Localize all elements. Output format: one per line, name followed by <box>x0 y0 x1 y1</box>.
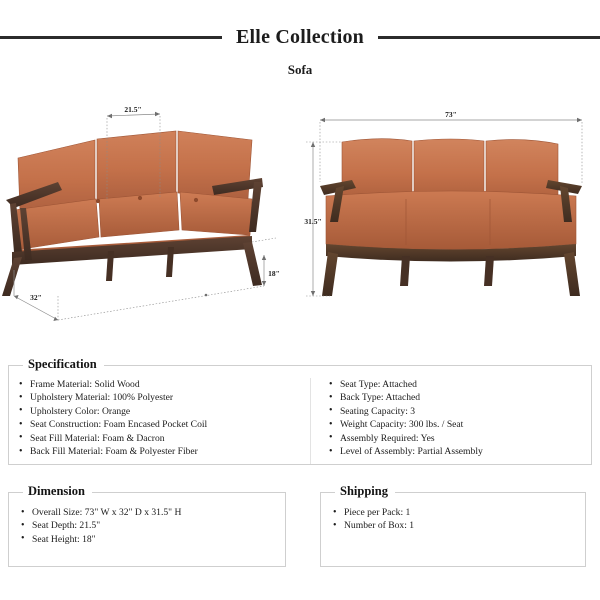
list-item: Level of Assembly: Partial Assembly <box>329 445 591 458</box>
dimension-label-width: 73" <box>445 110 457 119</box>
specification-section: Specification Frame Material: Solid Wood… <box>8 365 592 465</box>
dimension-label-seat-height: 18" <box>268 269 280 278</box>
list-item: Seat Depth: 21.5" <box>21 519 285 532</box>
page-title: Elle Collection <box>236 26 364 49</box>
header-rule-left <box>0 36 222 39</box>
header-rule-right <box>378 36 600 39</box>
shipping-list: Piece per Pack: 1 Number of Box: 1 <box>333 506 585 533</box>
dimension-list: Overall Size: 73" W x 32" D x 31.5" H Se… <box>21 506 285 546</box>
list-item: Seating Capacity: 3 <box>329 405 591 418</box>
list-item: Piece per Pack: 1 <box>333 506 585 519</box>
list-item: Upholstery Color: Orange <box>19 405 310 418</box>
sofa-perspective-view: 21.5" 32" 18" <box>0 100 300 350</box>
page-header: Elle Collection <box>0 26 600 49</box>
list-item: Upholstery Material: 100% Polyester <box>19 391 310 404</box>
list-item: Back Type: Attached <box>329 391 591 404</box>
specification-list-right: Seat Type: Attached Back Type: Attached … <box>329 378 591 458</box>
dimension-label-depth: 32" <box>30 293 42 302</box>
sofa-front-view: 73" 31.5" <box>300 100 600 350</box>
dimension-label-height: 31.5" <box>304 217 321 226</box>
page-subtitle: Sofa <box>0 62 600 78</box>
specification-legend: Specification <box>23 357 104 372</box>
list-item: Weight Capacity: 300 lbs. / Seat <box>329 418 591 431</box>
product-illustrations: 21.5" 32" 18" <box>0 100 600 350</box>
list-item: Back Fill Material: Foam & Polyester Fib… <box>19 445 310 458</box>
dimension-section: Dimension Overall Size: 73" W x 32" D x … <box>8 492 286 567</box>
list-item: Seat Type: Attached <box>329 378 591 391</box>
back-cushions <box>342 139 558 199</box>
list-item: Seat Construction: Foam Encased Pocket C… <box>19 418 310 431</box>
list-item: Seat Height: 18" <box>21 533 285 546</box>
dimension-legend: Dimension <box>23 484 92 499</box>
list-item: Frame Material: Solid Wood <box>19 378 310 391</box>
specification-column-right: Seat Type: Attached Back Type: Attached … <box>310 378 591 464</box>
dimension-label-seat-depth: 21.5" <box>124 105 141 114</box>
shipping-section: Shipping Piece per Pack: 1 Number of Box… <box>320 492 586 567</box>
list-item: Assembly Required: Yes <box>329 432 591 445</box>
list-item: Overall Size: 73" W x 32" D x 31.5" H <box>21 506 285 519</box>
seat-cushions <box>326 191 576 250</box>
list-item: Number of Box: 1 <box>333 519 585 532</box>
list-item: Seat Fill Material: Foam & Dacron <box>19 432 310 445</box>
shipping-legend: Shipping <box>335 484 395 499</box>
specification-column-left: Frame Material: Solid Wood Upholstery Ma… <box>9 378 310 464</box>
specification-list-left: Frame Material: Solid Wood Upholstery Ma… <box>19 378 310 458</box>
